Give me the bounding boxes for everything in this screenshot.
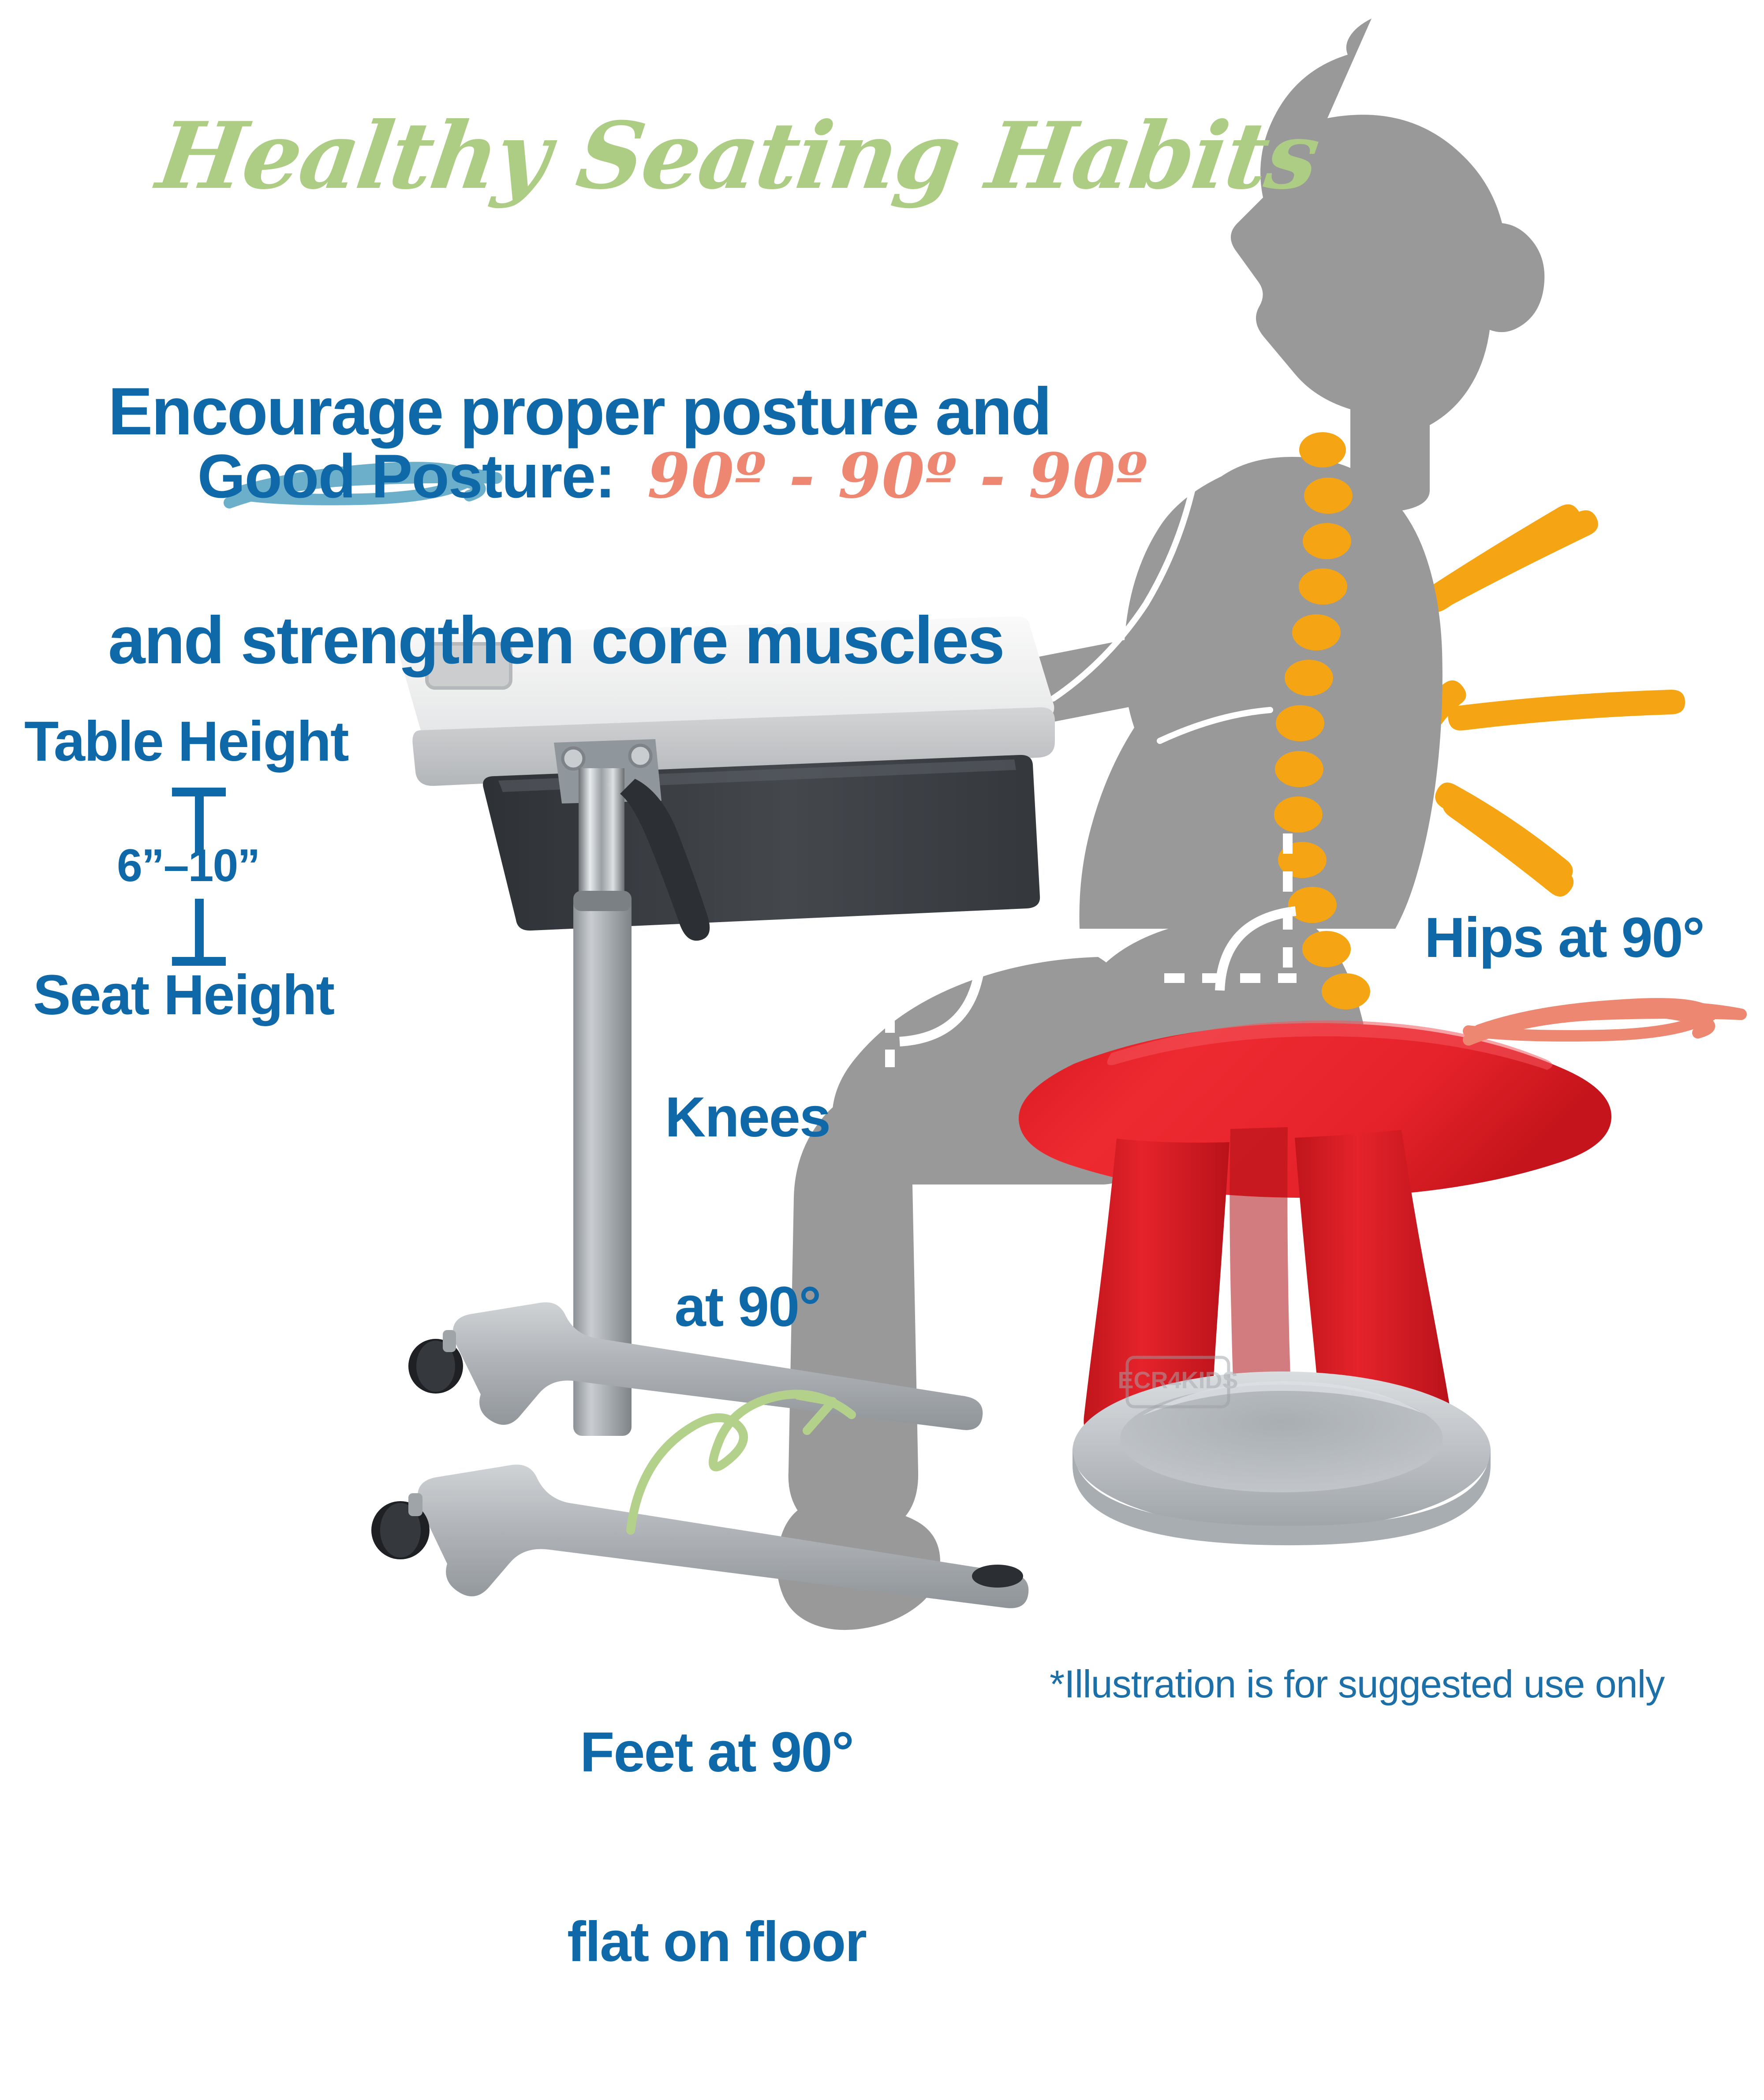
label-knees-angle: Knees at 90° xyxy=(646,959,849,1465)
label-feet-line-1: Feet at 90° xyxy=(542,1721,891,1784)
headline-line-2: and strengthen core muscles xyxy=(108,602,990,679)
footnote-disclaimer: *Illustration is for suggested use only xyxy=(1050,1665,1664,1704)
label-feet-line-2: flat on floor xyxy=(542,1910,891,1973)
infographic-canvas: ECR4KIDS Healthy Seating Habits Encourag… xyxy=(0,0,1764,1764)
label-knees-line-2: at 90° xyxy=(646,1275,849,1338)
wobble-stool: ECR4KIDS xyxy=(1019,1020,1611,1545)
good-posture-label: Good Posture: xyxy=(198,441,615,511)
label-table-height: Table Height xyxy=(24,710,348,773)
label-height-difference: 6”–10” xyxy=(117,840,259,891)
label-seat-height: Seat Height xyxy=(33,964,334,1027)
good-posture-row: Good Posture: 90º - 90º - 90º xyxy=(132,384,1148,569)
svg-text:ECR4KIDS: ECR4KIDS xyxy=(1117,1367,1238,1394)
page-title-script: Healthy Seating Habits xyxy=(152,110,1323,202)
good-posture-value: 90º - 90º - 90º xyxy=(647,440,1148,512)
foot-glide xyxy=(972,1565,1023,1588)
label-knees-line-1: Knees xyxy=(646,1086,849,1149)
label-feet-angle: Feet at 90° flat on floor xyxy=(542,1594,891,2100)
label-hips-angle: Hips at 90° xyxy=(1424,906,1704,969)
